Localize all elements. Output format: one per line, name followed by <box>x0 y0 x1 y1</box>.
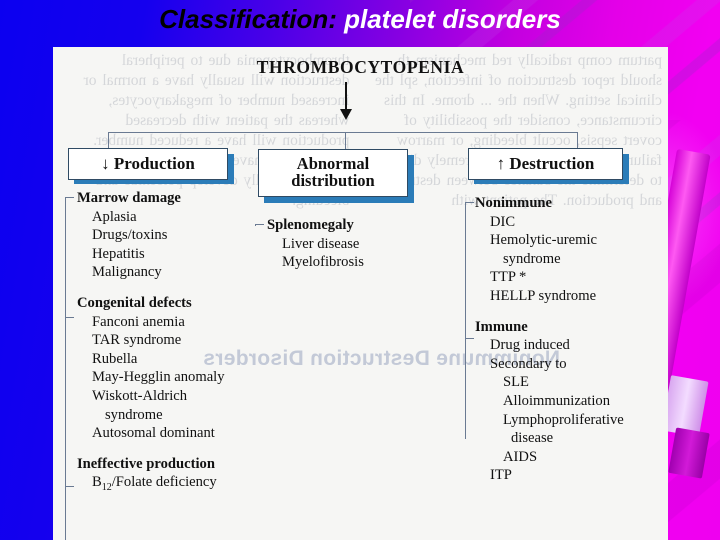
list-item: Secondary to <box>475 355 668 374</box>
list-item: Aplasia <box>77 208 282 227</box>
distribution-header-label-line2: distribution <box>291 173 374 190</box>
list-item: HELLP syndrome <box>475 287 668 306</box>
page-title-rest: platelet disorders <box>337 4 561 34</box>
list-item: ITP <box>475 466 668 485</box>
connector-stub-center <box>345 132 346 149</box>
destruction-header-box[interactable]: ↑ Destruction <box>468 148 623 180</box>
group-head-ineffective-production: Ineffective production <box>77 455 282 474</box>
list-item: TAR syndrome <box>77 331 282 350</box>
destruction-tick-2 <box>465 338 474 339</box>
list-item: Lymphoproliferative <box>475 411 668 430</box>
list-item: Autosomal dominant <box>77 424 282 443</box>
list-item: DIC <box>475 213 668 232</box>
production-bracket <box>65 197 66 540</box>
list-item: Drug induced <box>475 336 668 355</box>
list-item: Wiskott-Aldrich <box>77 387 282 406</box>
connector-horizontal <box>108 132 578 133</box>
connector-stub-left <box>108 132 109 149</box>
group-head-marrow-damage: Marrow damage <box>77 189 282 208</box>
distribution-header-box[interactable]: Abnormal distribution <box>258 149 408 197</box>
production-header-box[interactable]: ↓ Production <box>68 148 228 180</box>
group-head-nonimmune: Nonimmune <box>475 194 668 213</box>
list-item: Rubella <box>77 350 282 369</box>
list-item: syndrome <box>475 250 668 269</box>
list-item: SLE <box>475 373 668 392</box>
list-item: Alloimmunization <box>475 392 668 411</box>
list-item: disease <box>475 429 668 448</box>
list-item: Fanconi anemia <box>77 313 282 332</box>
slide: Classification: platelet disorders partu… <box>0 0 720 540</box>
list-item: Myelofibrosis <box>267 253 447 272</box>
down-arrow-icon <box>345 82 347 112</box>
list-item: syndrome <box>77 406 282 425</box>
list-item: Malignancy <box>77 263 282 282</box>
list-item: Hemolytic-uremic <box>475 231 668 250</box>
destruction-bracket <box>465 202 466 439</box>
production-list: Marrow damage Aplasia Drugs/toxins Hepat… <box>77 189 282 498</box>
classification-diagram: THROMBOCYTOPENIA ↓ Production Marrow dam… <box>53 47 668 540</box>
destruction-list: Nonimmune DIC Hemolytic-uremic syndrome … <box>475 194 668 485</box>
group-head-immune: Immune <box>475 318 668 337</box>
list-item: Liver disease <box>267 235 447 254</box>
production-tick-2 <box>65 317 74 318</box>
list-item: May-Hegglin anomaly <box>77 368 282 387</box>
list-item: TTP * <box>475 268 668 287</box>
page-title: Classification: platelet disorders <box>0 4 720 34</box>
distribution-list: Splenomegaly Liver disease Myelofibrosis <box>267 216 447 272</box>
group-head-splenomegaly: Splenomegaly <box>267 216 447 235</box>
distribution-tick-1 <box>255 224 264 225</box>
list-item-b12: B12/Folate deficiency <box>77 473 282 498</box>
list-item: Drugs/toxins <box>77 226 282 245</box>
diagram-root-label: THROMBOCYTOPENIA <box>53 57 668 78</box>
page-title-emphasis: Classification: <box>159 4 337 34</box>
production-tick-1 <box>65 197 74 198</box>
list-item: Hepatitis <box>77 245 282 264</box>
group-head-congenital-defects: Congenital defects <box>77 294 282 313</box>
list-item: AIDS <box>475 448 668 467</box>
content-panel: partum comp radically red mechanism th s… <box>53 47 668 540</box>
production-tick-3 <box>65 486 74 487</box>
production-header-label: ↓ Production <box>101 155 195 172</box>
connector-stub-right <box>577 132 578 149</box>
destruction-tick-1 <box>465 202 474 203</box>
destruction-header-label: ↑ Destruction <box>497 155 595 172</box>
